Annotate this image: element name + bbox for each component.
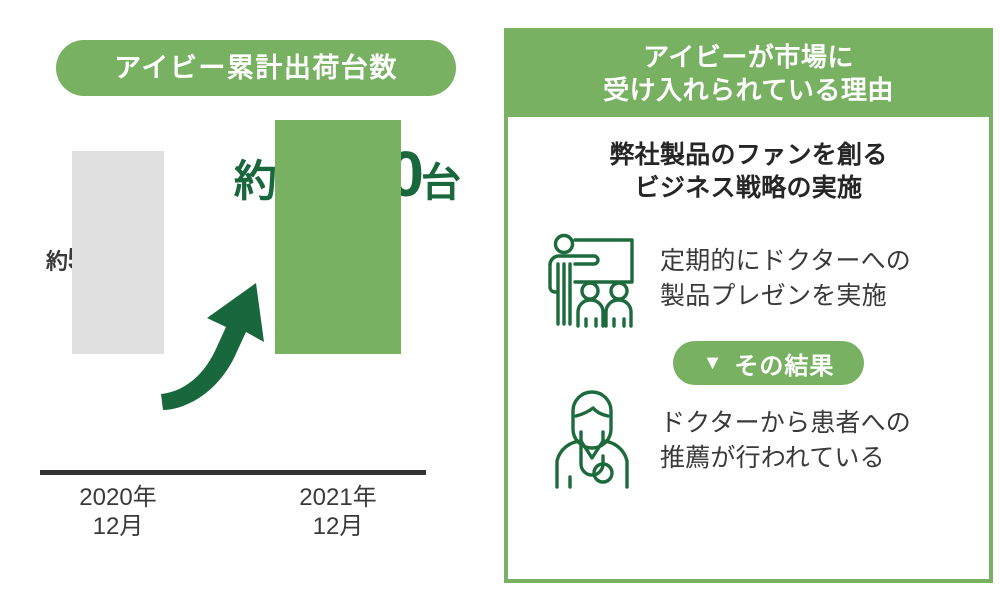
reason-presentation-line-1: 定期的にドクターへの xyxy=(660,244,911,280)
x-label-2020-year: 2020年 xyxy=(38,483,198,512)
result-pill-label: その結果 xyxy=(734,346,834,381)
result-pill-wrapper: ▼ その結果 xyxy=(526,341,971,385)
x-axis-label-2021: 2021年 12月 xyxy=(258,483,418,542)
reason-recommendation-line-2: 推薦が行われている xyxy=(660,441,911,477)
reason-presentation-text: 定期的にドクターへの 製品プレゼンを実施 xyxy=(660,244,911,315)
chart-plot-area xyxy=(0,0,480,480)
growth-arrow-icon xyxy=(160,280,280,415)
reason-presentation-line-2: 製品プレゼンを実施 xyxy=(660,279,911,315)
reasons-panel-body: 弊社製品のファンを創る ビジネス戦略の実施 xyxy=(508,117,989,493)
chart-axis-line xyxy=(40,470,426,475)
x-label-2020-month: 12月 xyxy=(38,512,198,541)
x-axis-label-2020: 2020年 12月 xyxy=(38,483,198,542)
x-label-2021-month: 12月 xyxy=(258,512,418,541)
reason-recommendation-text: ドクターから患者への 推薦が行われている xyxy=(660,406,911,477)
strategy-headline-row-2: ビジネス戦略の実施 xyxy=(526,172,971,205)
reason-item-recommendation: ドクターから患者への 推薦が行われている xyxy=(526,389,971,493)
bar-2021-12 xyxy=(275,120,401,354)
reasons-panel: アイビーが市場に 受け入れられている理由 弊社製品のファンを創る ビジネス戦略の… xyxy=(504,28,993,583)
shipment-chart-panel: アイビー累計出荷台数 約6,500台 約5,000台 2020年 12月 202… xyxy=(0,0,480,598)
result-pill: ▼ その結果 xyxy=(673,341,865,385)
strategy-headline-line-2: ビジネス戦略の実施 xyxy=(631,172,867,205)
reason-recommendation-line-1: ドクターから患者への xyxy=(660,406,911,442)
reason-item-presentation: 定期的にドクターへの 製品プレゼンを実施 xyxy=(526,227,971,331)
triangle-down-icon: ▼ xyxy=(703,353,723,373)
reasons-header-line-2: 受け入れられている理由 xyxy=(603,74,894,107)
reasons-panel-header: アイビーが市場に 受け入れられている理由 xyxy=(507,31,990,117)
presentation-icon xyxy=(540,227,644,331)
x-label-2021-year: 2021年 xyxy=(258,483,418,512)
strategy-headline-row-1: 弊社製品のファンを創る xyxy=(526,139,971,172)
strategy-headline-line-1: 弊社製品のファンを創る xyxy=(605,139,891,172)
reasons-header-line-1: アイビーが市場に xyxy=(643,41,854,74)
bar-2020-12 xyxy=(72,151,164,354)
doctor-icon xyxy=(540,389,644,493)
strategy-headline: 弊社製品のファンを創る ビジネス戦略の実施 xyxy=(526,139,971,205)
